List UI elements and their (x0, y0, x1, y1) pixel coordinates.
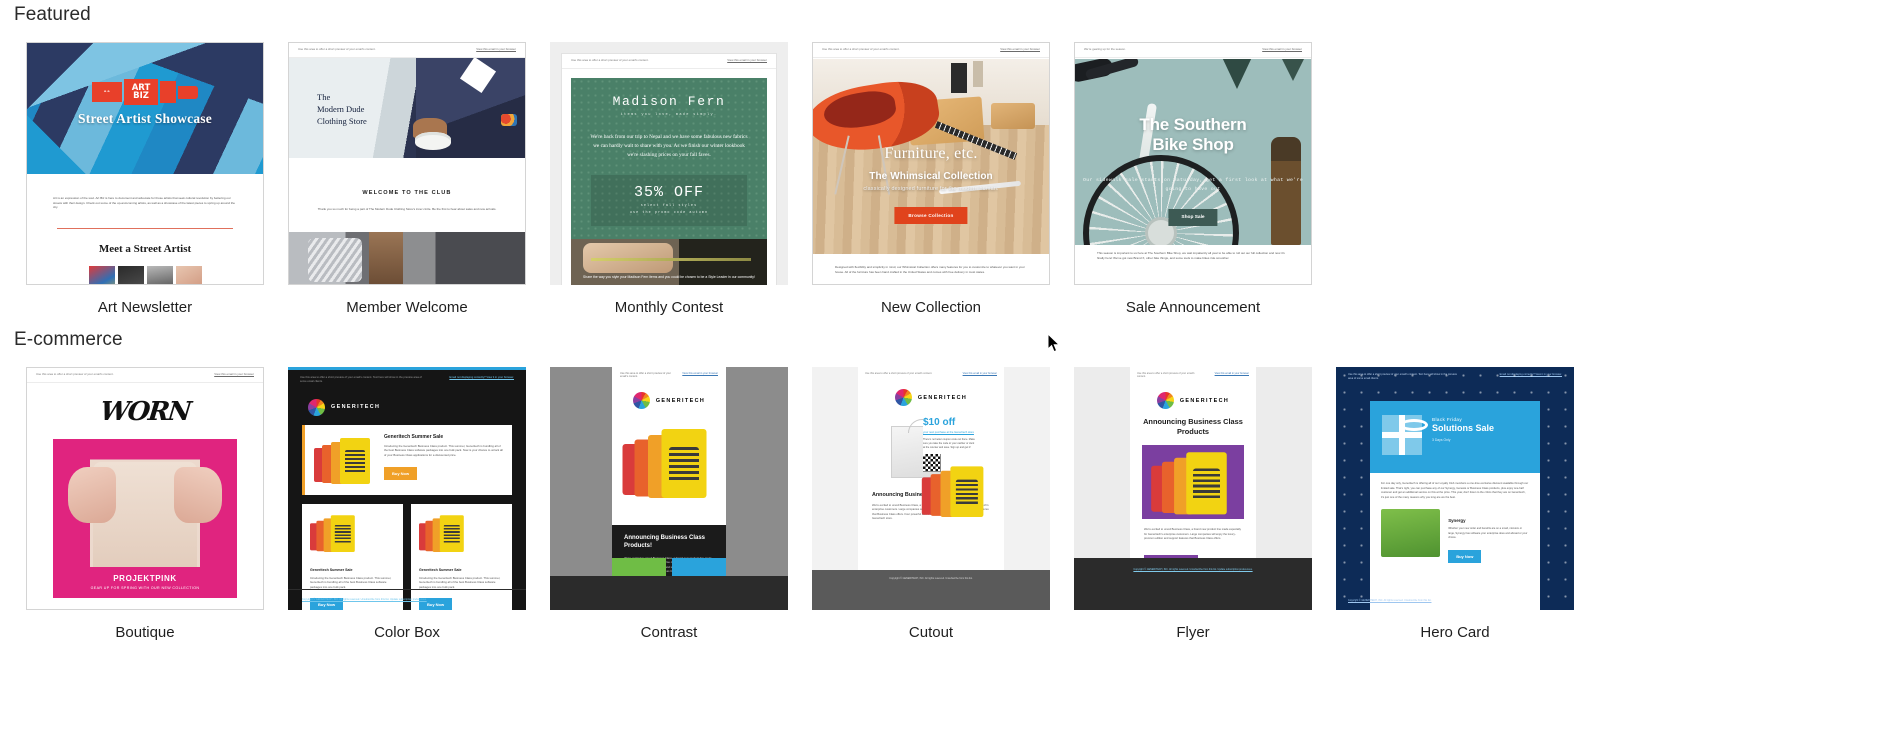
template-card-cutout[interactable]: Use this area to offer a short preview o… (800, 367, 1062, 641)
preheader-text: Use this area to offer a short preview o… (865, 372, 932, 375)
shop-sale-button[interactable]: Shop Sale (1168, 209, 1217, 226)
thumbnail-color-box[interactable]: Use this area to offer a short preview o… (288, 367, 526, 610)
art-newsletter-title: Street Artist Showcase (27, 111, 263, 127)
new-collection-body: Designed with flexibility and simplicity… (835, 265, 1027, 274)
preheader: Use this area to offer a short preview o… (612, 367, 726, 383)
footer: Copyright © GENERITECH, INC. All rights … (1074, 558, 1312, 610)
hero-card-body-wrap: For one day only, Generitech is offering… (1370, 473, 1540, 563)
product-stack-image (1162, 456, 1224, 508)
view-in-browser-link[interactable]: Email not displaying correctly? View it … (449, 376, 514, 384)
feature-body: Introducing the Generitech Business Clas… (384, 444, 503, 457)
sale-hero-photo: The Southern Bike Shop Our sidewalk sale… (1075, 59, 1311, 245)
share-text: Share the way you style your Madison Fer… (571, 275, 767, 281)
product-stack-image (419, 512, 469, 554)
card-caption: Boutique (115, 624, 174, 641)
new-collection-hero-photo: Furniture, etc. The Whimsical Collection… (813, 59, 1049, 254)
art-newsletter-subhead: Meet a Street Artist (53, 243, 237, 255)
browse-collection-button[interactable]: Browse Collection (894, 207, 967, 224)
offer-detail-1: select fall styles (591, 204, 747, 208)
preheader: Use this area to offer a short preview o… (858, 367, 1004, 380)
feature-panel: Generitech Summer Sale Introducing the G… (302, 425, 512, 495)
view-in-browser-link[interactable]: View this email in your browser (476, 48, 516, 52)
thumbnail-cutout[interactable]: Use this area to offer a short preview o… (812, 367, 1050, 610)
banner-sub: 3 Days Only (1432, 438, 1494, 442)
card-caption: Flyer (1176, 624, 1209, 641)
card-body: Introducing the Generitech Business Clas… (419, 576, 504, 589)
worn-logo: WORN (26, 397, 264, 427)
bunting-flag-icon (1221, 59, 1253, 89)
thumbnail-art-newsletter[interactable]: ◓◓ ARTBIZ Street Artist Showcase Art is … (26, 42, 264, 285)
preheader-text: Use this area to offer a short preview o… (571, 59, 649, 63)
footer-links[interactable]: Copyright © GENERITECH, INC. All rights … (1133, 568, 1252, 571)
preheader-text: Use this area to offer a short preview o… (36, 373, 114, 377)
view-in-browser-link[interactable]: View this email in your browser (963, 372, 997, 375)
preheader: Use this area to offer a short preview o… (289, 43, 525, 58)
section-heading-ecommerce: E-commerce (0, 329, 1586, 351)
logo-lines-icon (160, 81, 176, 103)
product-body: Whether your new order and benefits are … (1448, 527, 1529, 540)
gift-box-icon (1382, 415, 1422, 455)
hero-tagline: Our sidewalk sale starts on Saturday, ge… (1079, 177, 1307, 194)
preheader: Use this area to offer a short preview o… (288, 370, 526, 390)
view-in-browser-link[interactable]: View this email in your browser (727, 59, 767, 63)
template-card-boutique[interactable]: Use this area to offer a short preview o… (14, 367, 276, 641)
section-ecommerce: E-commerce Use this area to offer a shor… (0, 329, 1586, 641)
card-caption: Contrast (641, 624, 698, 641)
buy-now-button[interactable]: Buy Now (1448, 550, 1481, 563)
template-card-monthly-contest[interactable]: Use this area to offer a short preview o… (538, 42, 800, 316)
thumbnail-sale-announcement[interactable]: We're gearing up for the season. View th… (1074, 42, 1312, 285)
card-title: Generitech Summer Sale (419, 568, 504, 572)
generitech-star-icon (633, 392, 650, 409)
offer-detail-2: use the promo code autumn (591, 211, 747, 215)
thumbnail-member-welcome[interactable]: Use this area to offer a short preview o… (288, 42, 526, 285)
brand-name: GENERITECH (331, 404, 380, 410)
card-caption: Sale Announcement (1126, 299, 1260, 316)
logo-brush-icon (178, 86, 198, 99)
footer: Copyright © GENERITECH, INC. All rights … (812, 570, 1050, 610)
card-caption: Member Welcome (346, 299, 467, 316)
preheader-text: Use this area to offer a short preview o… (620, 372, 675, 378)
view-in-browser-link[interactable]: View this email in your browser (214, 373, 254, 377)
hero-card-banner: Black Friday Solutions Sale 3 Days Only (1370, 401, 1540, 473)
lapel-pin-icon (501, 114, 517, 126)
view-in-browser-link[interactable]: View this email in your browser (1215, 372, 1249, 378)
offer-block: 35% OFF select fall styles use the promo… (591, 175, 747, 226)
card-caption: Art Newsletter (98, 299, 192, 316)
logo-roller-icon: ◓◓ (92, 82, 122, 102)
preheader-text: We're gearing up for the season. (1084, 48, 1126, 52)
member-welcome-hero: The Modern Dude Clothing Store (289, 58, 525, 158)
template-card-flyer[interactable]: Use this area to offer a short preview o… (1062, 367, 1324, 641)
buy-now-button[interactable]: Buy Now (384, 467, 417, 480)
hero-subtitle: The Whimsical Collection (813, 171, 1049, 182)
product-stack-wrap (928, 462, 990, 514)
featured-card-grid: ◓◓ ARTBIZ Street Artist Showcase Art is … (0, 42, 1324, 316)
preheader: Use this area to offer a short preview o… (562, 54, 776, 69)
offer-amount: 35% OFF (591, 184, 747, 201)
preheader: Use this area to offer a short preview o… (1130, 367, 1256, 383)
footer-links[interactable]: Copyright © GENERITECH, INC. All rights … (302, 598, 427, 601)
preheader-text: Use this area to offer a short preview o… (822, 48, 900, 52)
card-caption: Color Box (374, 624, 440, 641)
welcome-heading: WELCOME TO THE CLUB (289, 190, 525, 196)
card-caption: Hero Card (1420, 624, 1489, 641)
preheader-text: Use this area to offer a short preview o… (1137, 372, 1200, 378)
flyer-hero-block (1142, 445, 1244, 519)
footer: Copyright © GENERITECH, INC. All rights … (288, 589, 526, 610)
bunting-flag-icon (1279, 59, 1307, 81)
logo-wordmark: ARTBIZ (124, 79, 158, 105)
product-stack-image (623, 423, 716, 501)
contest-copy: We're back from our trip to Nepal and we… (571, 133, 767, 161)
thumbnail-boutique[interactable]: Use this area to offer a short preview o… (26, 367, 264, 610)
product-image-synergy (1381, 509, 1440, 557)
art-biz-logo-icon: ◓◓ ARTBIZ (92, 79, 198, 105)
brand-name: GENERITECH (656, 398, 705, 404)
thumbnail-flyer[interactable]: Use this area to offer a short preview o… (1074, 367, 1312, 610)
card-caption: Monthly Contest (615, 299, 723, 316)
template-card-hero-card[interactable]: Use this area to offer a short preview o… (1324, 367, 1586, 641)
banner-title: Solutions Sale (1432, 424, 1494, 434)
footer-text: Copyright © GENERITECH, INC. All rights … (812, 570, 1050, 581)
boutique-banner: PROJEKTPINK GEAR UP FOR SPRING WITH OUR … (53, 567, 237, 598)
generitech-star-icon (1157, 392, 1174, 409)
product-stack-image (314, 434, 376, 486)
product-stack-image (310, 512, 360, 554)
banner-title: PROJEKTPINK (53, 574, 237, 583)
banner-sub: GEAR UP FOR SPRING WITH OUR NEW COLLECTI… (53, 586, 237, 590)
welcome-copy: Thank you so much for being a part of Th… (289, 207, 525, 212)
view-in-browser-link[interactable]: View this email in your browser (682, 372, 718, 378)
footer (550, 576, 788, 610)
brand-tagline: items you love, made simply. (571, 113, 767, 117)
hero-tagline: classically designed furniture for the m… (813, 186, 1049, 192)
preheader: We're gearing up for the season. View th… (1075, 43, 1311, 58)
offer-link[interactable]: your next purchase at the Generitech sto… (923, 431, 977, 434)
boutique-footer-text: Lovely light colors and flattering textu… (27, 609, 263, 610)
card-body: Introducing the Generitech Business Clas… (310, 576, 395, 589)
brand-row: GENERITECH (858, 380, 1004, 406)
hero-card-body: For one day only, Generitech is offering… (1381, 482, 1529, 500)
product-hero (612, 409, 726, 483)
announcement-title: Announcing Business Class Products! (624, 535, 714, 551)
template-card-member-welcome[interactable]: Use this area to offer a short preview o… (276, 42, 538, 316)
artist-photo-strip (53, 266, 237, 285)
brand-row: GENERITECH (1130, 383, 1256, 409)
brand-name: GENERITECH (1180, 398, 1229, 404)
brand-row: GENERITECH (288, 390, 526, 416)
member-welcome-bottom-photo (289, 232, 525, 284)
brand-name: Madison Fern (571, 94, 767, 109)
hero-title: Furniture, etc. (813, 145, 1049, 163)
flyer-title: Announcing Business Class Products (1130, 417, 1256, 436)
brand-name: GENERITECH (918, 395, 967, 401)
offer-body: There's no better coupon code out there.… (923, 438, 977, 450)
banner-kicker: Black Friday (1432, 417, 1494, 422)
art-newsletter-body: Art is an expression of the soul. Art Bi… (53, 196, 237, 210)
footer-links[interactable]: Copyright © GENERITECH, INC. All rights … (1348, 599, 1431, 602)
thumbnail-monthly-contest[interactable]: Use this area to offer a short preview o… (550, 42, 788, 285)
card-caption: New Collection (881, 299, 981, 316)
template-card-art-newsletter[interactable]: ◓◓ ARTBIZ Street Artist Showcase Art is … (14, 42, 276, 316)
product-stack-image (922, 462, 990, 519)
card-title: Generitech Summer Sale (310, 568, 395, 572)
template-card-new-collection[interactable]: Use this area to offer a short preview o… (800, 42, 1062, 316)
offer-amount: $10 off (923, 418, 977, 428)
feature-title: Generitech Summer Sale (384, 434, 503, 440)
template-gallery: Featured ◓◓ ARTBIZ (0, 0, 1877, 749)
view-in-browser-link[interactable]: View this email in your browser (1262, 48, 1302, 52)
art-newsletter-body-wrap: Art is an expression of the soul. Art Bi… (27, 174, 263, 285)
preheader-text: Use this area to offer a short preview o… (298, 48, 376, 52)
member-welcome-brand: The Modern Dude Clothing Store (317, 91, 367, 128)
art-newsletter-hero: ◓◓ ARTBIZ Street Artist Showcase (27, 43, 263, 174)
generitech-star-icon (895, 389, 912, 406)
thumbnail-contrast[interactable]: Use this area to offer a short preview o… (550, 367, 788, 610)
hero-title: The Southern Bike Shop (1075, 115, 1311, 155)
preheader: Use this area to offer a short preview o… (27, 368, 263, 383)
preheader-text: Use this area to offer a short preview o… (300, 376, 424, 384)
template-card-color-box[interactable]: Use this area to offer a short preview o… (276, 367, 538, 641)
thumbnail-new-collection[interactable]: Use this area to offer a short preview o… (812, 42, 1050, 285)
preheader: Use this area to offer a short preview o… (813, 43, 1049, 58)
sale-body: This season is important to us here at T… (1097, 251, 1289, 260)
boutique-hero-photo (53, 439, 237, 567)
flyer-body: We're excited to unveil Business Class, … (1144, 528, 1242, 542)
monthly-contest-hero: Madison Fern items you love, made simply… (571, 78, 767, 260)
template-card-sale-announcement[interactable]: We're gearing up for the season. View th… (1062, 42, 1324, 316)
brand-row: GENERITECH (612, 383, 726, 409)
footer: Copyright © GENERITECH, INC. All rights … (1336, 592, 1574, 610)
card-caption: Cutout (909, 624, 953, 641)
generitech-star-icon (308, 399, 325, 416)
template-card-contrast[interactable]: Use this area to offer a short preview o… (538, 367, 800, 641)
product-title: Synergy (1448, 518, 1529, 523)
view-in-browser-link[interactable]: View this email in your browser (1000, 48, 1040, 52)
monthly-contest-photo: Share the way you style your Madison Fer… (571, 239, 767, 285)
section-heading-featured: Featured (0, 4, 1324, 26)
thumbnail-hero-card[interactable]: Use this area to offer a short preview o… (1336, 367, 1574, 610)
ecommerce-card-grid: Use this area to offer a short preview o… (0, 367, 1586, 641)
divider (57, 228, 233, 229)
section-featured: Featured ◓◓ ARTBIZ (0, 4, 1324, 316)
